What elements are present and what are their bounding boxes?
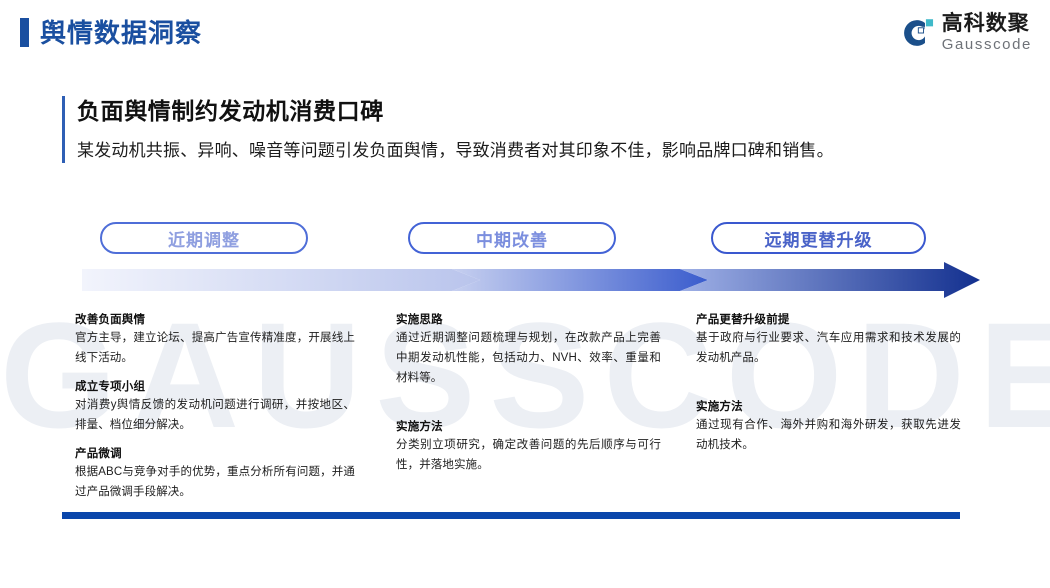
block-body: 分类别立项研究，确定改善问题的先后顺序与可行性，并落地实施。 bbox=[396, 436, 661, 476]
stage-pill-long-term[interactable]: 远期更替升级 bbox=[711, 222, 926, 254]
block-body: 官方主导，建立论坛、提高广告宣传精准度，开展线上线下活动。 bbox=[75, 329, 355, 369]
column-spacer bbox=[696, 369, 961, 399]
logo-name-cn: 高科数聚 bbox=[942, 13, 1032, 34]
headline-row: 负面舆情制约发动机消费口碑 某发动机共振、异响、噪音等问题引发负面舆情，导致消费… bbox=[62, 96, 834, 163]
slide-canvas: GAUSSCODE 舆情数据洞察 高科数聚 Gausscode 负面舆情制约发动… bbox=[0, 0, 1050, 588]
content-block: 改善负面舆情 官方主导，建立论坛、提高广告宣传精准度，开展线上线下活动。 bbox=[75, 312, 355, 369]
block-title: 实施方法 bbox=[396, 419, 661, 436]
column-mid-term: 实施思路 通过近期调整问题梳理与规划，在改款产品上完善中期发动机性能，包括动力、… bbox=[396, 312, 661, 475]
logo-name-en: Gausscode bbox=[942, 37, 1032, 52]
square-bullet-icon bbox=[20, 18, 29, 47]
content-block: 产品更替升级前提 基于政府与行业要求、汽车应用需求和技术发展的发动机产品。 bbox=[696, 312, 961, 369]
block-body: 基于政府与行业要求、汽车应用需求和技术发展的发动机产品。 bbox=[696, 329, 961, 369]
right-arrow-progression-icon bbox=[82, 262, 980, 298]
block-title: 实施方法 bbox=[696, 399, 961, 416]
block-body: 通过现有合作、海外并购和海外研发，获取先进发动机技术。 bbox=[696, 416, 961, 456]
headline-subtitle: 某发动机共振、异响、噪音等问题引发负面舆情，导致消费者对其印象不佳，影响品牌口碑… bbox=[77, 140, 834, 163]
column-long-term: 产品更替升级前提 基于政府与行业要求、汽车应用需求和技术发展的发动机产品。 实施… bbox=[696, 312, 961, 456]
company-logo: 高科数聚 Gausscode bbox=[896, 13, 1032, 52]
headline-block: 负面舆情制约发动机消费口碑 某发动机共振、异响、噪音等问题引发负面舆情，导致消费… bbox=[62, 96, 834, 163]
headline-accent-bar bbox=[62, 96, 65, 163]
block-body: 对消费y舆情反馈的发动机问题进行调研，并按地区、排量、档位细分解决。 bbox=[75, 396, 355, 436]
gausscode-c-mark-icon bbox=[896, 14, 934, 52]
block-title: 改善负面舆情 bbox=[75, 312, 355, 329]
stage-pill-label: 近期调整 bbox=[168, 226, 240, 251]
block-title: 产品微调 bbox=[75, 446, 355, 463]
content-block: 实施方法 通过现有合作、海外并购和海外研发，获取先进发动机技术。 bbox=[696, 399, 961, 456]
page-title: 舆情数据洞察 bbox=[40, 20, 202, 46]
block-title: 实施思路 bbox=[396, 312, 661, 329]
stage-pill-mid-term[interactable]: 中期改善 bbox=[408, 222, 616, 254]
stage-pill-label: 中期改善 bbox=[476, 226, 548, 251]
bottom-accent-bar bbox=[62, 512, 960, 519]
column-near-term: 改善负面舆情 官方主导，建立论坛、提高广告宣传精准度，开展线上线下活动。 成立专… bbox=[75, 312, 355, 502]
content-block: 产品微调 根据ABC与竞争对手的优势，重点分析所有问题，并通过产品微调手段解决。 bbox=[75, 446, 355, 503]
content-block: 实施思路 通过近期调整问题梳理与规划，在改款产品上完善中期发动机性能，包括动力、… bbox=[396, 312, 661, 389]
content-block: 成立专项小组 对消费y舆情反馈的发动机问题进行调研，并按地区、排量、档位细分解决… bbox=[75, 379, 355, 436]
stage-pill-near-term[interactable]: 近期调整 bbox=[100, 222, 308, 254]
block-body: 通过近期调整问题梳理与规划，在改款产品上完善中期发动机性能，包括动力、NVH、效… bbox=[396, 329, 661, 388]
headline-texts: 负面舆情制约发动机消费口碑 某发动机共振、异响、噪音等问题引发负面舆情，导致消费… bbox=[77, 96, 834, 163]
block-title: 产品更替升级前提 bbox=[696, 312, 961, 329]
stage-pill-label: 远期更替升级 bbox=[765, 226, 873, 251]
logo-text-group: 高科数聚 Gausscode bbox=[942, 13, 1032, 52]
column-spacer bbox=[396, 389, 661, 419]
headline-title: 负面舆情制约发动机消费口碑 bbox=[77, 97, 834, 126]
stage-pill-row: 近期调整 中期改善 远期更替升级 bbox=[0, 222, 1050, 256]
content-block: 实施方法 分类别立项研究，确定改善问题的先后顺序与可行性，并落地实施。 bbox=[396, 419, 661, 476]
page-title-group: 舆情数据洞察 bbox=[20, 18, 202, 47]
block-title: 成立专项小组 bbox=[75, 379, 355, 396]
slide-header: 舆情数据洞察 高科数聚 Gausscode bbox=[0, 0, 1050, 70]
block-body: 根据ABC与竞争对手的优势，重点分析所有问题，并通过产品微调手段解决。 bbox=[75, 463, 355, 503]
